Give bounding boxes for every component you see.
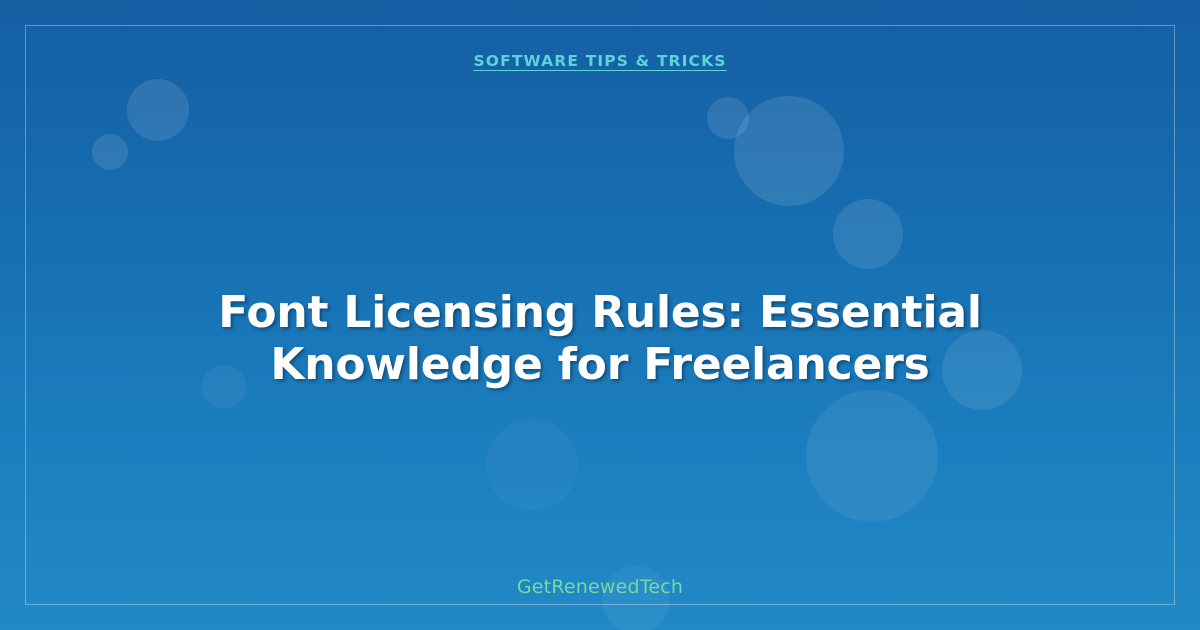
card-content: SOFTWARE TIPS & TRICKS Font Licensing Ru… bbox=[0, 0, 1200, 630]
title-container: Font Licensing Rules: Essential Knowledg… bbox=[0, 258, 1200, 420]
page-title: Font Licensing Rules: Essential Knowledg… bbox=[80, 287, 1120, 390]
social-share-card: SOFTWARE TIPS & TRICKS Font Licensing Ru… bbox=[0, 0, 1200, 630]
brand-name: GetRenewedTech bbox=[0, 576, 1200, 598]
category-kicker[interactable]: SOFTWARE TIPS & TRICKS bbox=[473, 52, 726, 70]
